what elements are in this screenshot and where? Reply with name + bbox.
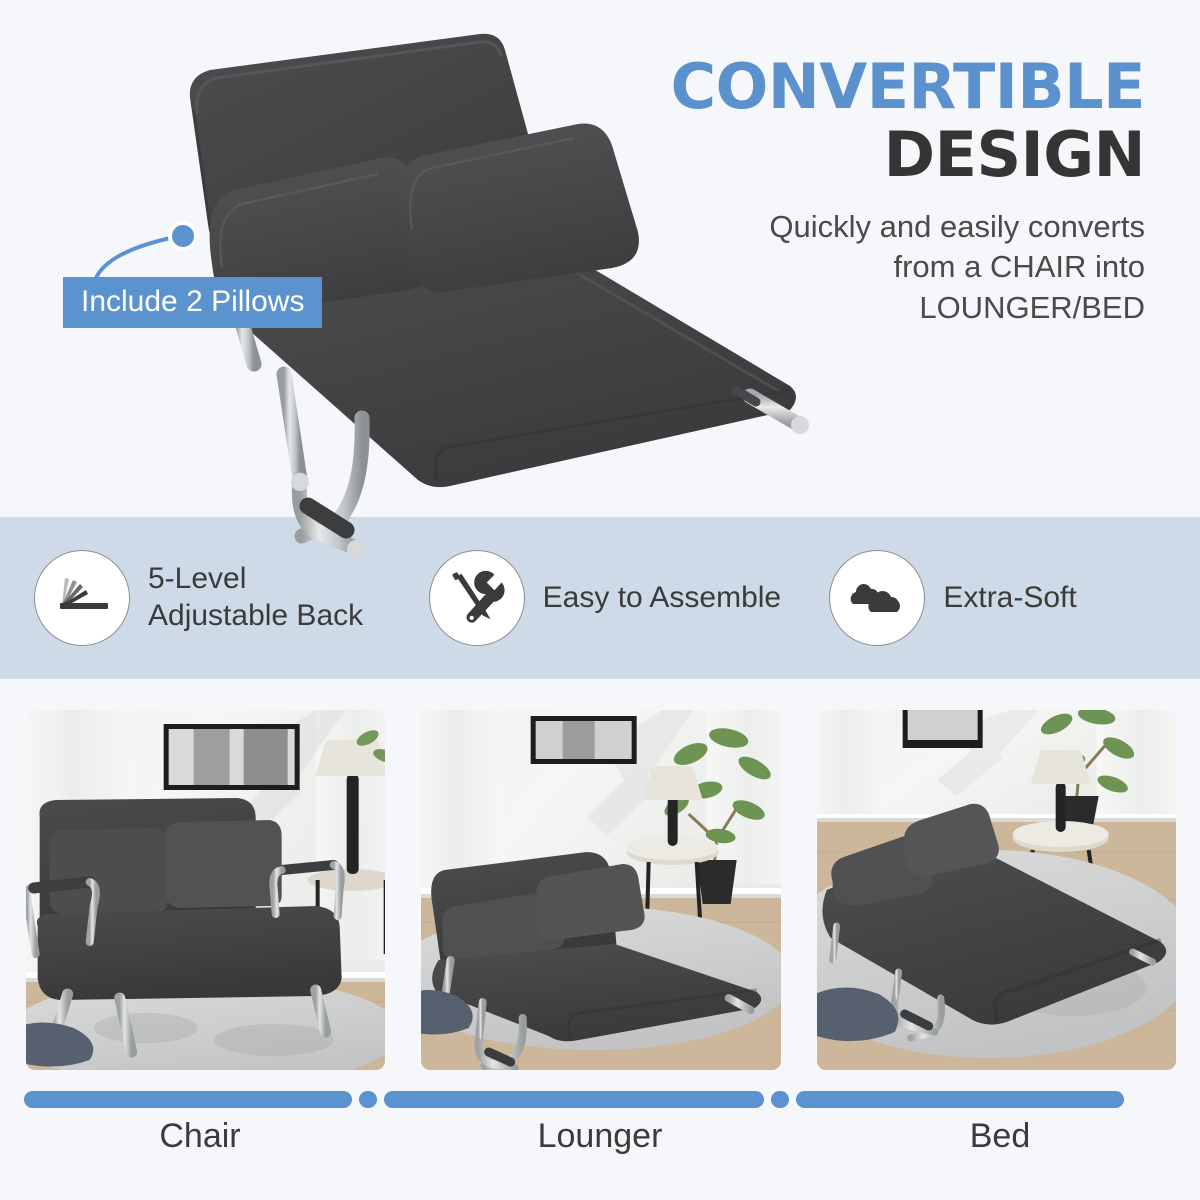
hero-copy: CONVERTIBLE DESIGN Quickly and easily co…: [585, 55, 1145, 328]
chair-mode-photo: [26, 710, 385, 1070]
lounger-mode-photo: [421, 710, 780, 1070]
feature-easy-assemble-label: Easy to Assemble: [543, 580, 781, 617]
progress-dot-2: [771, 1091, 789, 1108]
mode-labels: Chair Lounger Bed: [0, 1117, 1200, 1156]
pillow-callout: Include 2 Pillows: [55, 215, 395, 335]
hero-subtext-line-3: LOUNGER/BED: [585, 288, 1145, 328]
headline-primary: CONVERTIBLE: [585, 55, 1145, 118]
mode-label-chair: Chair: [0, 1117, 400, 1156]
feature-extra-soft-label: Extra-Soft: [943, 580, 1076, 617]
progress-bar-chair: [24, 1091, 352, 1108]
feature-2-line-1: Easy to Assemble: [543, 580, 781, 617]
mode-label-bed: Bed: [800, 1117, 1200, 1156]
feature-3-line-1: Extra-Soft: [943, 580, 1076, 617]
hero-section: Include 2 Pillows CONVERTIBLE DESIGN Qui…: [0, 0, 1200, 517]
headline-secondary: DESIGN: [585, 122, 1145, 189]
hero-subtext-line-2: from a CHAIR into: [585, 247, 1145, 287]
progress-bar-bed: [796, 1091, 1124, 1108]
progress-bar-lounger: [384, 1091, 764, 1108]
mode-label-lounger: Lounger: [400, 1117, 800, 1156]
mode-photo-row: [0, 679, 1200, 1079]
bed-mode-photo: [817, 710, 1176, 1070]
progress-bars: [24, 1089, 1176, 1109]
feature-extra-soft: Extra-Soft: [799, 550, 1200, 646]
progress-dot-1: [359, 1091, 377, 1108]
recline-fan-icon: [34, 550, 130, 646]
feature-1-line-2: Adjustable Back: [148, 598, 363, 635]
mode-progress-section: Chair Lounger Bed: [0, 1089, 1200, 1199]
hero-subtext-line-1: Quickly and easily converts: [585, 207, 1145, 247]
hero-subtext: Quickly and easily converts from a CHAIR…: [585, 207, 1145, 328]
callout-label: Include 2 Pillows: [63, 277, 322, 328]
